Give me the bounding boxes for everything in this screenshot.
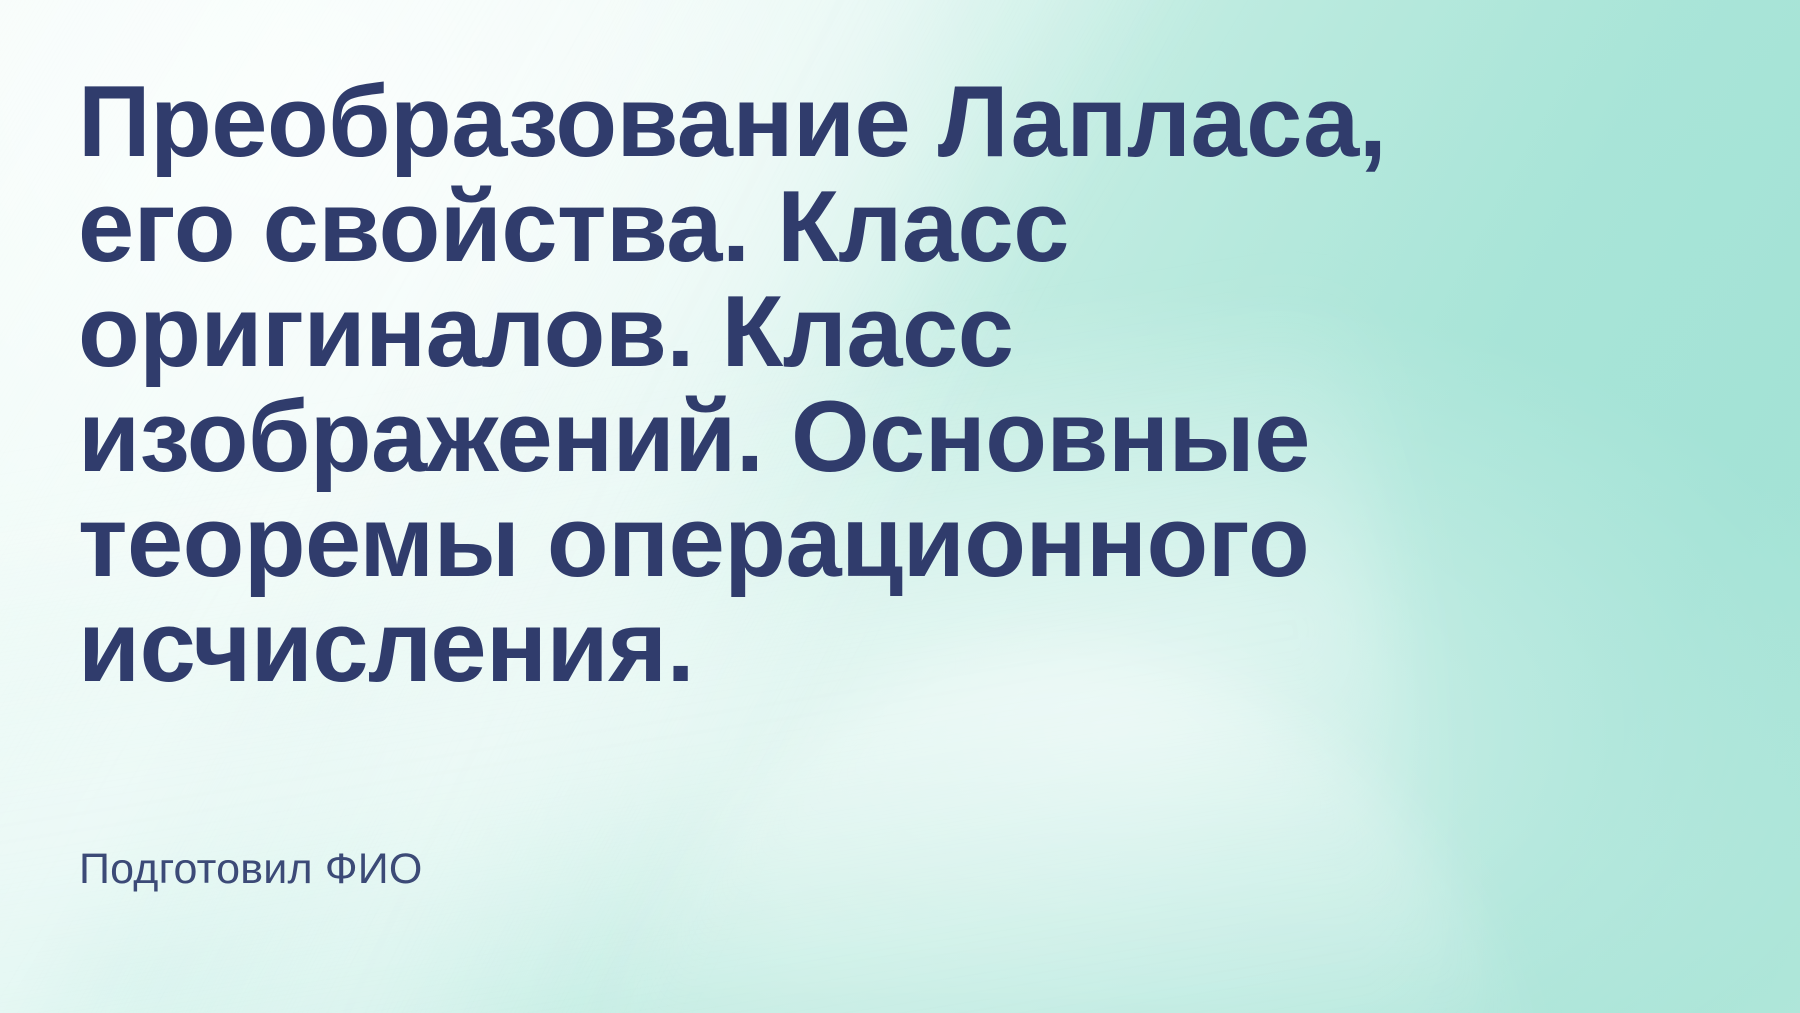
slide-subtitle-author: Подготовил ФИО (79, 843, 423, 895)
slide-title: Преобразование Лапласа, его свойства. Кл… (78, 70, 1508, 700)
presentation-title-slide: Преобразование Лапласа, его свойства. Кл… (0, 0, 1800, 1013)
slide-content: Преобразование Лапласа, его свойства. Кл… (78, 0, 1740, 1013)
